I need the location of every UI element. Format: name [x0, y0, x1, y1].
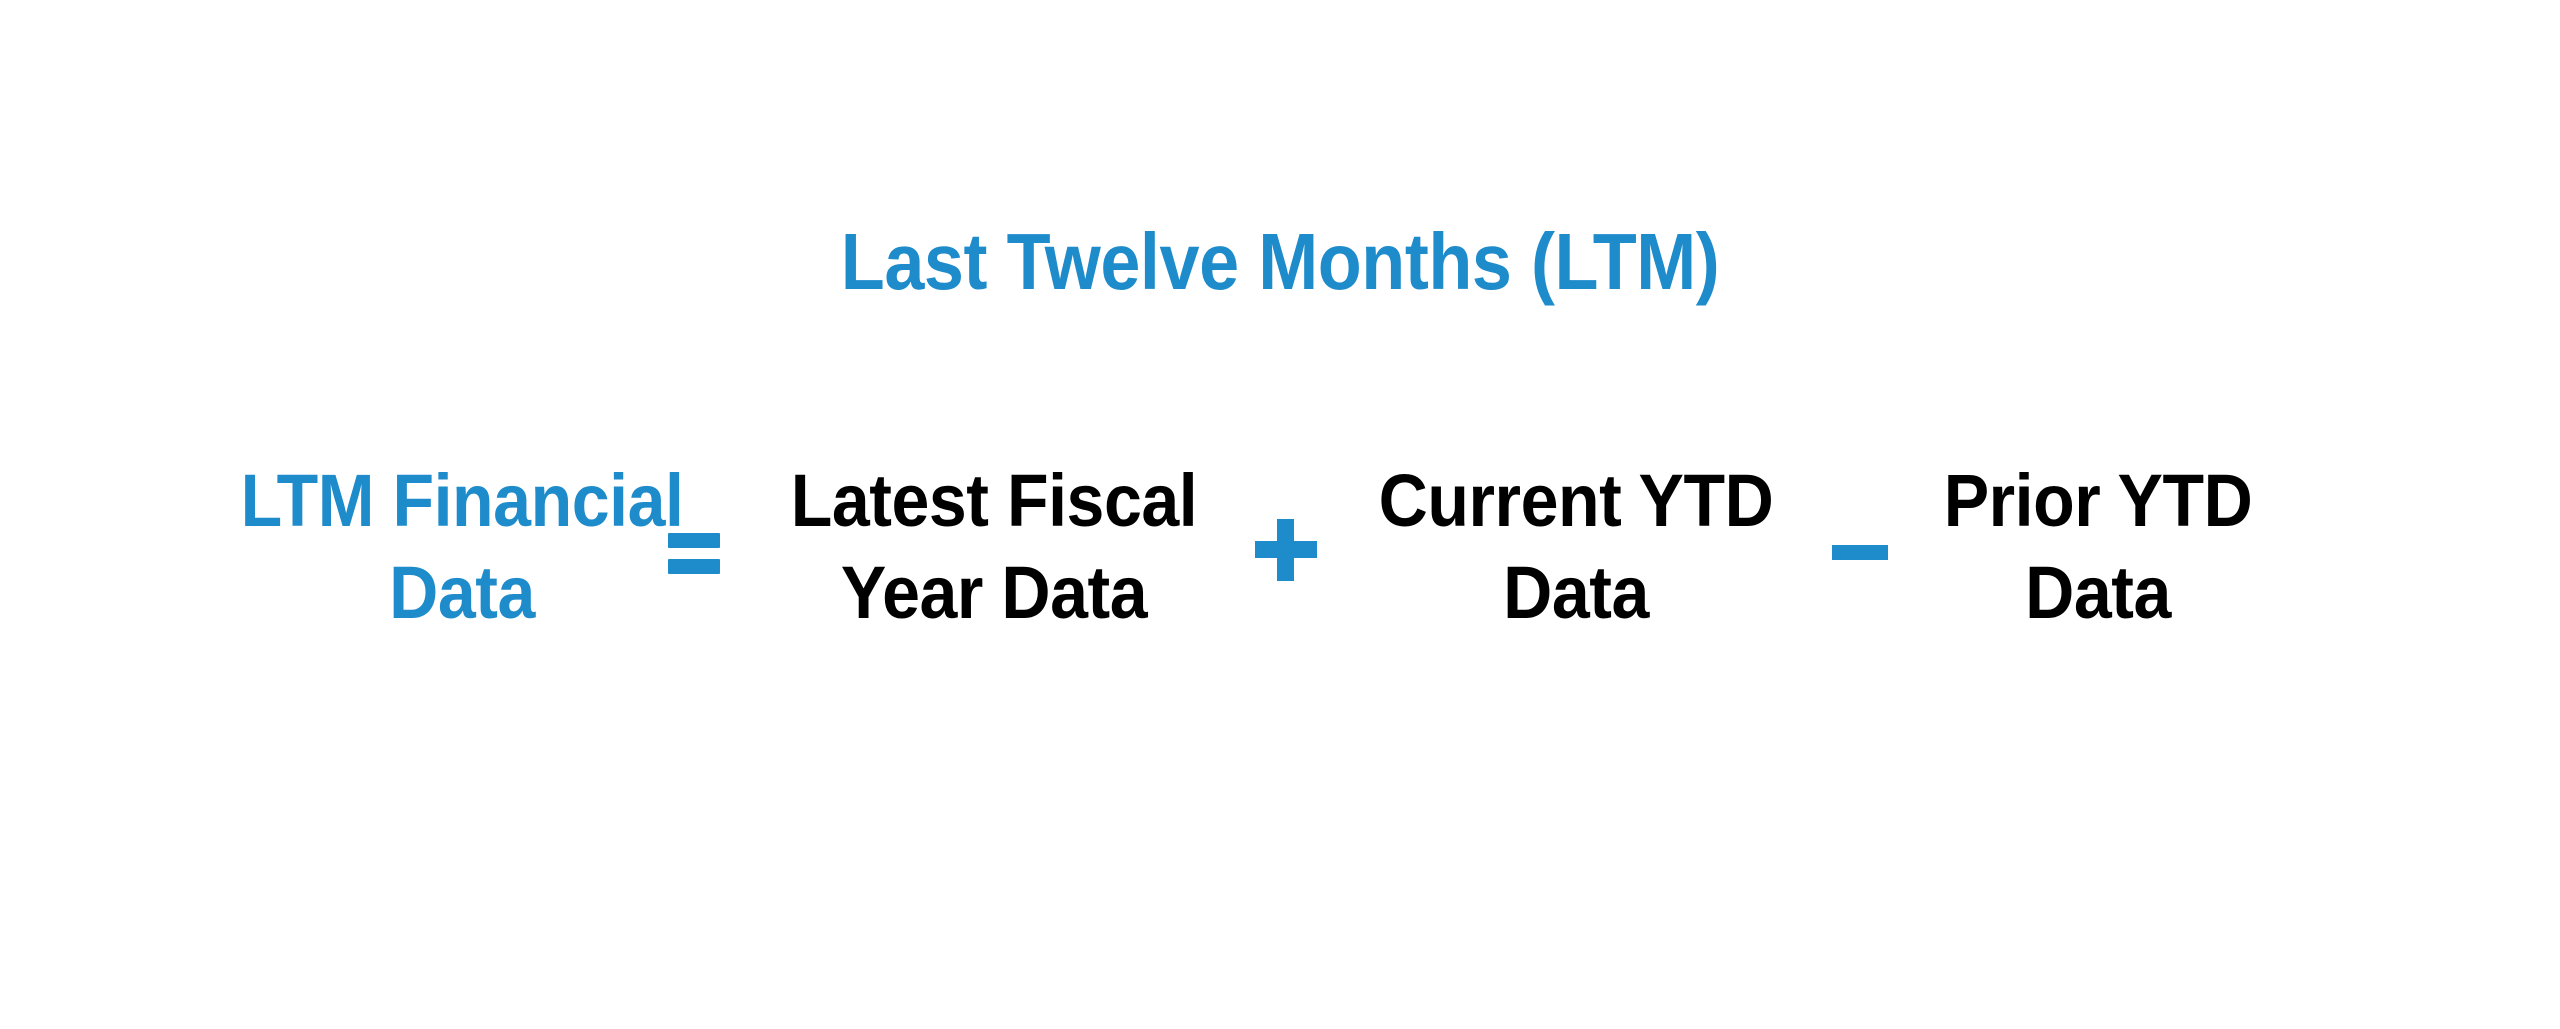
term-prior-ytd-data: Prior YTD Data	[1923, 455, 2273, 639]
term-prior-ytd-data-line-2: Data	[2025, 547, 2171, 639]
term-current-ytd-data: Current YTD Data	[1355, 455, 1797, 639]
minus-bar-horizontal	[1832, 545, 1888, 560]
equals-bar-bottom	[668, 559, 720, 574]
plus-operator-icon	[1244, 501, 1336, 593]
plus-bar-vertical	[1277, 519, 1294, 581]
term-ltm-financial-data-line-2: Data	[389, 547, 535, 639]
term-ltm-financial-data: LTM Financial Data	[287, 455, 637, 639]
term-latest-fiscal-year-data: Latest Fiscal Year Data	[764, 455, 1224, 639]
minus-operator-icon	[1816, 501, 1908, 593]
equals-operator-icon	[652, 501, 744, 593]
term-latest-fiscal-year-data-line-2: Year Data	[841, 547, 1147, 639]
page-title: Last Twelve Months (LTM)	[841, 214, 1720, 310]
formula-row: LTM Financial Data Latest Fiscal Year Da…	[0, 455, 2560, 639]
term-prior-ytd-data-line-1: Prior YTD	[1944, 455, 2253, 547]
term-ltm-financial-data-line-1: LTM Financial	[241, 455, 684, 547]
title-container: Last Twelve Months (LTM)	[0, 214, 2560, 310]
equals-bar-top	[668, 533, 720, 548]
term-latest-fiscal-year-data-line-1: Latest Fiscal	[791, 455, 1197, 547]
term-current-ytd-data-line-2: Data	[1503, 547, 1649, 639]
ltm-formula-slide: Last Twelve Months (LTM) LTM Financial D…	[0, 0, 2560, 1029]
term-current-ytd-data-line-1: Current YTD	[1379, 455, 1774, 547]
